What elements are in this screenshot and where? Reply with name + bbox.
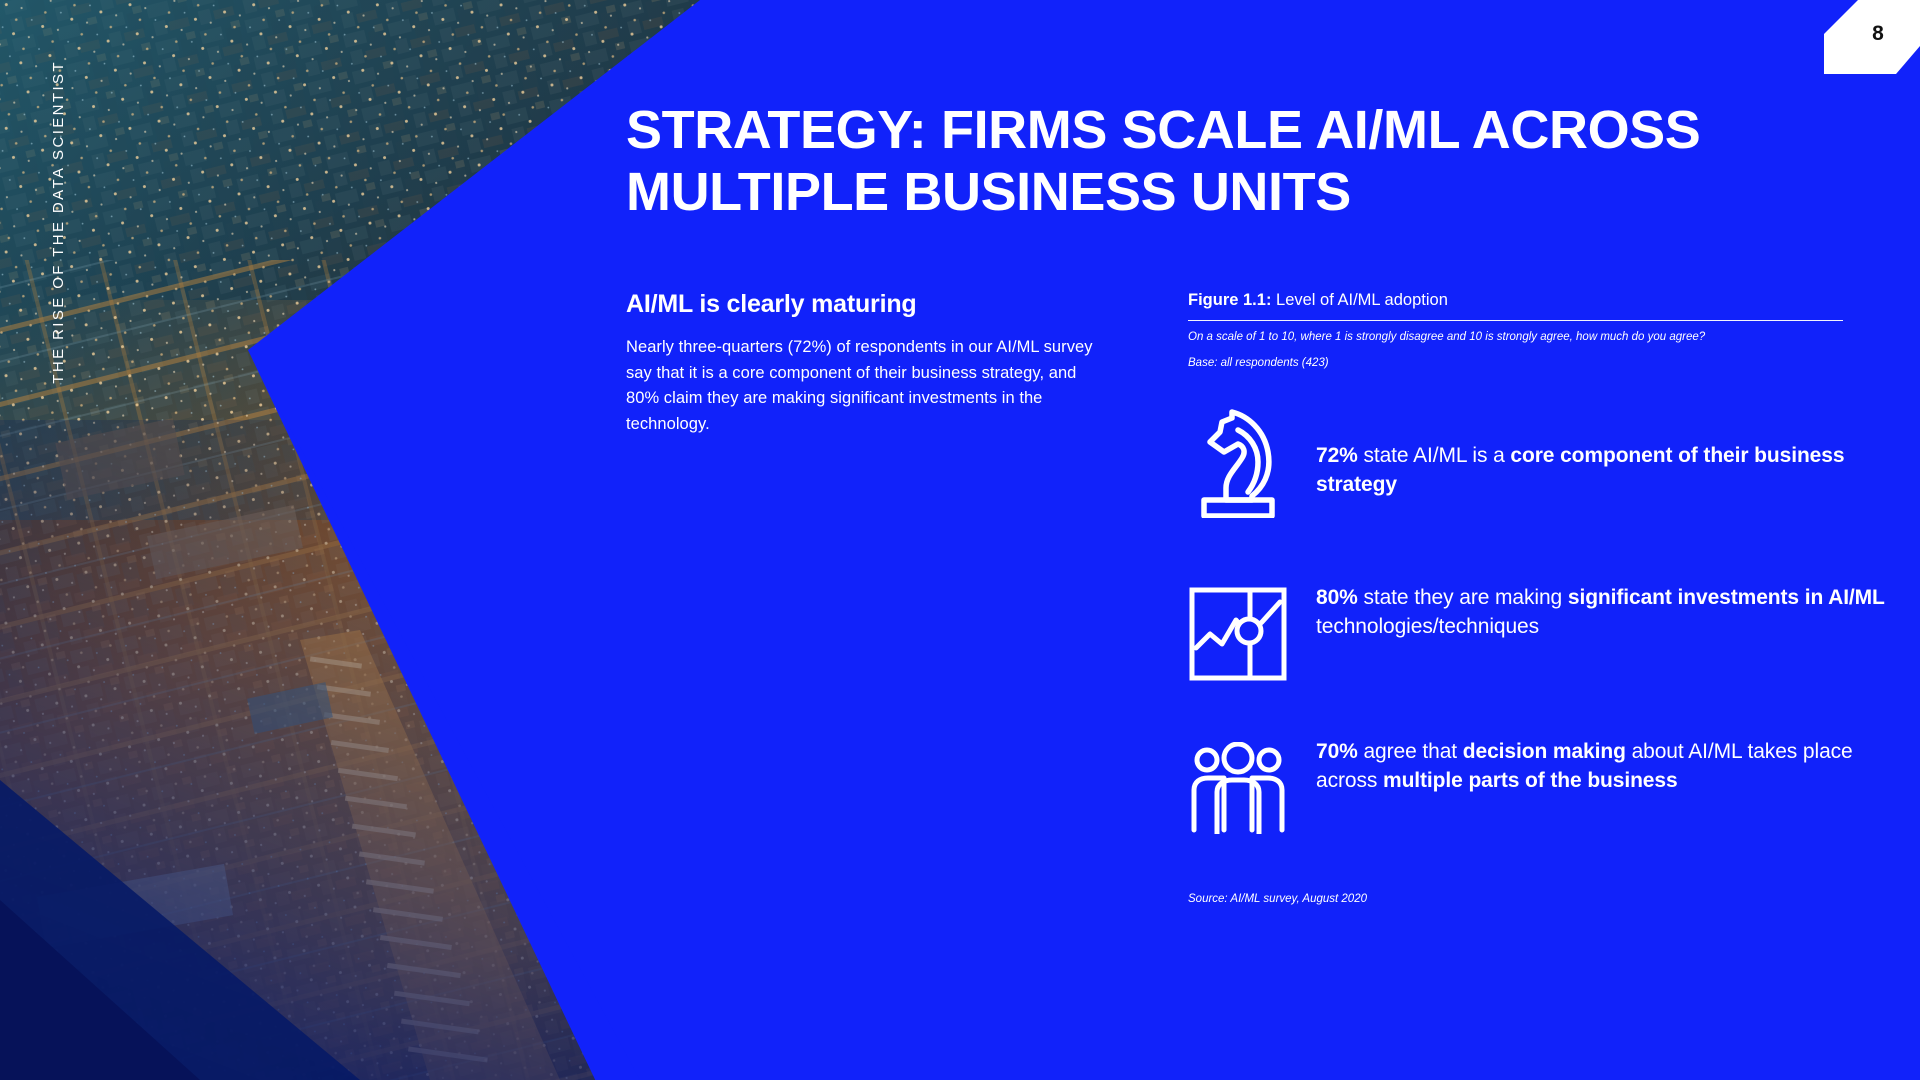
stat-emphasis: 80% [1316, 586, 1358, 609]
stat-plain: state they are making [1358, 586, 1568, 609]
stat-emphasis: decision making [1463, 740, 1626, 763]
page-number: 8 [1872, 22, 1884, 46]
stat-text: 70% agree that decision making about AI/… [1316, 736, 1888, 796]
figure-base: Base: all respondents (423) [1188, 347, 1848, 372]
figure-label: Figure 1.1: [1188, 291, 1271, 309]
stat-text: 72% state AI/ML is a core component of t… [1316, 400, 1888, 500]
stat-row: 80% state they are making significant in… [1188, 582, 1888, 694]
left-column: AI/ML is clearly maturing Nearly three-q… [626, 290, 1096, 438]
line-chart-icon [1188, 582, 1316, 694]
spine-label: THE RISE OF THE DATA SCIENTIST [50, 60, 67, 480]
left-column-heading: AI/ML is clearly maturing [626, 290, 1096, 319]
people-group-icon [1188, 736, 1316, 848]
figure-divider [1188, 320, 1843, 321]
page-title: STRATEGY: FIRMS SCALE AI/ML ACROSS MULTI… [626, 100, 1716, 223]
left-column-body: Nearly three-quarters (72%) of responden… [626, 335, 1096, 438]
slide-canvas: THE RISE OF THE DATA SCIENTIST 8 STRATEG… [0, 0, 1920, 1080]
page-title-line-1: STRATEGY: FIRMS SCALE AI/ML ACROSS [626, 100, 1716, 162]
figure-header: Figure 1.1: Level of AI/ML adoption On a… [1188, 290, 1848, 372]
page-number-badge: 8 [1824, 0, 1920, 74]
stat-text: 80% state they are making significant in… [1316, 582, 1888, 642]
stat-list: 72% state AI/ML is a core component of t… [1188, 400, 1888, 890]
stat-row: 70% agree that decision making about AI/… [1188, 736, 1888, 848]
stat-plain: agree that [1358, 740, 1463, 763]
figure-title: Level of AI/ML adoption [1276, 291, 1448, 309]
stat-emphasis: multiple parts of the business [1383, 769, 1678, 792]
figure-caption: Figure 1.1: Level of AI/ML adoption [1188, 290, 1848, 320]
stat-emphasis: significant investments in AI/ML [1568, 586, 1885, 609]
stat-emphasis: 70% [1316, 740, 1358, 763]
stat-emphasis: 72% [1316, 444, 1358, 467]
page-title-line-2: MULTIPLE BUSINESS UNITS [626, 162, 1716, 224]
stat-plain: state AI/ML is a [1358, 444, 1511, 467]
chess-knight-icon [1188, 400, 1316, 540]
stat-row: 72% state AI/ML is a core component of t… [1188, 400, 1888, 540]
stat-plain: technologies/techniques [1316, 615, 1539, 638]
figure-question: On a scale of 1 to 10, where 1 is strong… [1188, 321, 1848, 346]
figure-source: Source: AI/ML survey, August 2020 [1188, 893, 1367, 905]
